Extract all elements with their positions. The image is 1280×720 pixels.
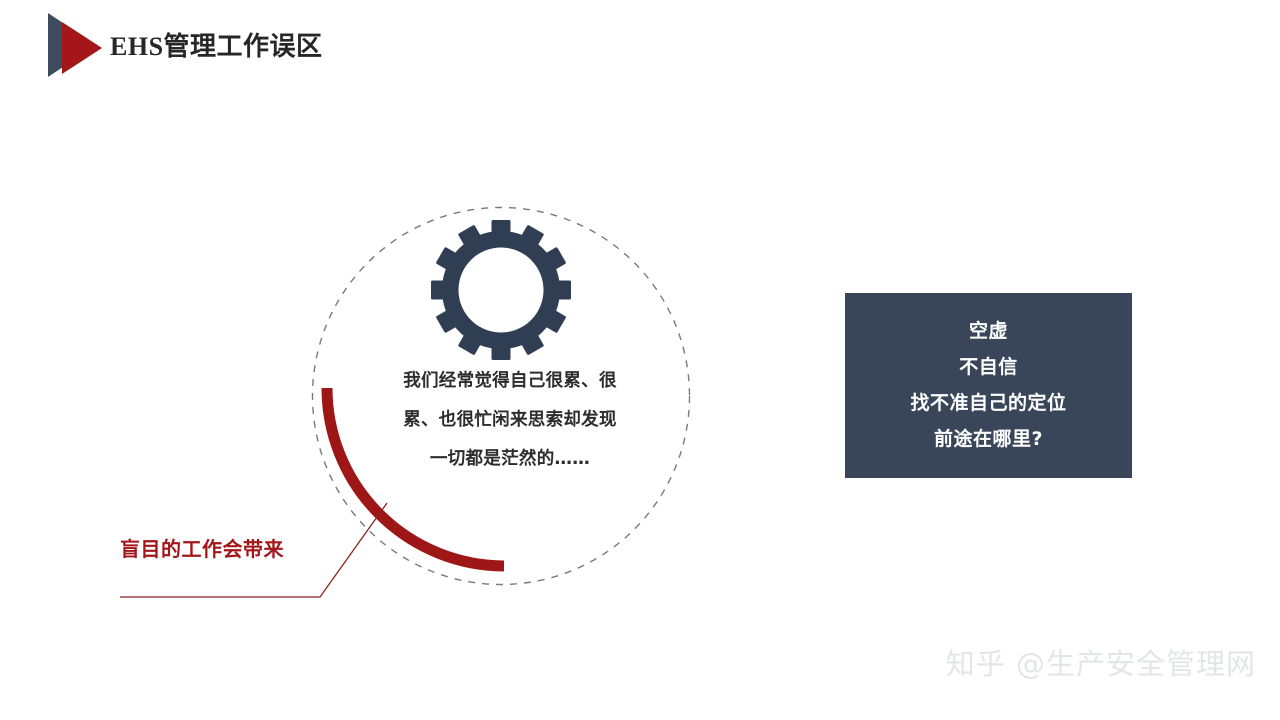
- consequence-line-4: 前途在哪里?: [855, 421, 1122, 457]
- callout-label: 盲目的工作会带来: [120, 535, 284, 563]
- consequence-line-2: 不自信: [855, 349, 1122, 385]
- consequence-line-3: 找不准自己的定位: [855, 385, 1122, 421]
- circle-statement-text: 我们经常觉得自己很累、很 累、也很忙闲来思索却发现 一切都是茫然的……: [356, 362, 664, 479]
- circle-text-line-2: 累、也很忙闲来思索却发现: [356, 401, 664, 440]
- consequence-line-1: 空虚: [855, 313, 1122, 349]
- page-title: EHS管理工作误区: [110, 30, 323, 64]
- slide-canvas: EHS管理工作误区: [0, 0, 1280, 720]
- callout-group: 盲目的工作会带来: [110, 490, 410, 615]
- consequence-panel: 空虚 不自信 找不准自己的定位 前途在哪里?: [845, 293, 1132, 478]
- gear-icon: [431, 220, 571, 360]
- circle-text-line-1: 我们经常觉得自己很累、很: [356, 362, 664, 401]
- circle-text-line-3: 一切都是茫然的……: [356, 440, 664, 479]
- slide-header: EHS管理工作误区: [0, 0, 1280, 100]
- double-triangle-play-logo-icon: [44, 12, 112, 78]
- watermark: 知乎 @生产安全管理网: [856, 645, 1256, 683]
